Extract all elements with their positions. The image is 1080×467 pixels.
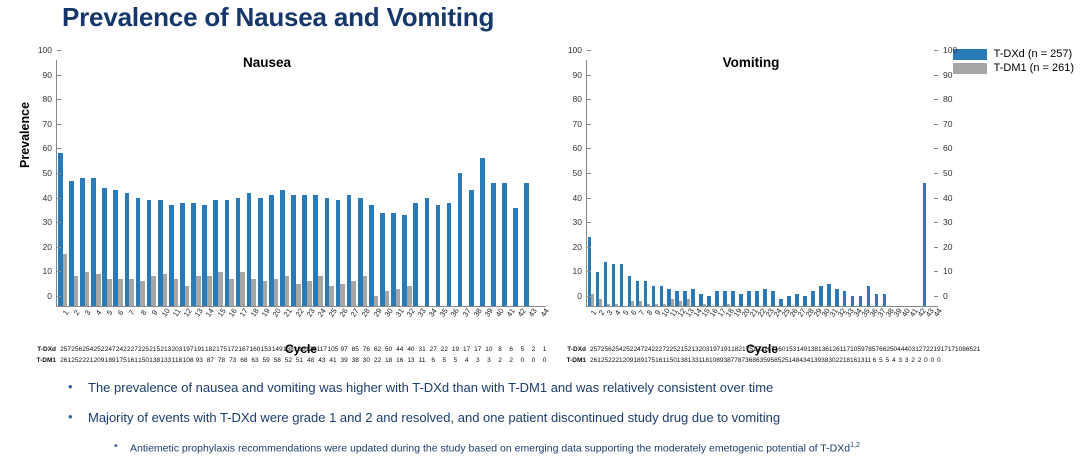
bar-group [235, 60, 246, 306]
x-tick-label: 27 [794, 309, 802, 343]
x-tick-label: 4 [610, 309, 618, 343]
bar-group [268, 60, 279, 306]
at-risk-cell: 252 [93, 346, 104, 353]
bar [118, 279, 123, 306]
bar [612, 264, 615, 306]
at-risk-cell: 8 [494, 346, 505, 353]
at-risk-cell: 247 [633, 346, 644, 353]
at-risk-cell: 117 [316, 346, 327, 353]
bar-group [90, 60, 101, 306]
bar [620, 264, 623, 306]
bar-group [124, 60, 135, 306]
bar [163, 274, 168, 306]
at-risk-cell: 136 [294, 346, 305, 353]
x-tick-label: 14 [690, 309, 698, 343]
y-tick-left-0: 0 [577, 291, 587, 301]
at-risk-cell: 85 [868, 346, 875, 353]
bar [591, 294, 594, 306]
bar-group [335, 60, 346, 306]
at-risk-cell: 108 [183, 357, 194, 364]
at-risk-cell: 150 [666, 357, 677, 364]
at-risk-cell: 225 [138, 346, 149, 353]
at-risk-cell: 78 [734, 357, 741, 364]
x-tick-label: 22 [290, 309, 301, 343]
x-tick-label: 31 [826, 309, 834, 343]
at-risk-cell: 172 [227, 346, 238, 353]
bar [296, 284, 301, 306]
bar [318, 276, 323, 306]
bar-group [827, 60, 835, 306]
at-risk-cell: 22 [926, 346, 933, 353]
at-risk-cell: 38 [821, 357, 828, 364]
bar [491, 183, 496, 306]
x-tick-label: 14 [201, 309, 212, 343]
at-risk-cell: 138 [149, 357, 160, 364]
x-tick-label: 40 [898, 309, 906, 343]
x-tick-label: 9 [650, 309, 658, 343]
bar [679, 301, 682, 306]
bar [763, 289, 766, 306]
bar-group [819, 60, 827, 306]
bar-group [866, 60, 874, 306]
bar-group [179, 60, 190, 306]
bar [644, 281, 647, 306]
bar-group [795, 60, 803, 306]
at-risk-cell: 209 [623, 357, 634, 364]
bar [251, 279, 256, 306]
bar [151, 276, 156, 306]
at-risk-cell: 150 [138, 357, 149, 364]
x-tick-label: 26 [335, 309, 346, 343]
bar [843, 291, 846, 306]
at-risk-cell: 50 [890, 346, 897, 353]
at-risk-cell: 11 [417, 357, 428, 364]
at-risk-cell: 6 [506, 346, 517, 353]
at-risk-cell: 50 [383, 346, 394, 353]
at-risk-cell: 138 [283, 346, 294, 353]
at-risk-cell: 43 [799, 357, 806, 364]
bar-group [890, 60, 898, 306]
at-risk-cell: 0 [539, 357, 550, 364]
bar-group [898, 60, 906, 306]
bullet-item-sub-1: Antiemetic prophylaxis recommendations w… [110, 441, 1030, 456]
bar-group [224, 60, 235, 306]
at-risk-values-nausea-tdm1: 2612522212091891751611501381331181089387… [60, 357, 550, 364]
at-risk-cell: 59 [763, 357, 770, 364]
bar [771, 291, 774, 306]
x-tick-label: 35 [435, 309, 446, 343]
at-risk-cell: 10 [955, 346, 962, 353]
x-tick-label: 29 [368, 309, 379, 343]
x-tick-label: 3 [78, 309, 89, 343]
x-tick-label: 11 [666, 309, 674, 343]
bar-group [659, 60, 667, 306]
bar [859, 296, 862, 306]
bar-group [914, 60, 922, 306]
bar [218, 272, 223, 306]
at-risk-values-vomiting-tdm1: 2612522212091891751611501381331181089387… [590, 357, 942, 364]
bar [458, 173, 463, 306]
bar [274, 279, 279, 306]
at-risk-cell: 189 [633, 357, 644, 364]
bar [604, 262, 607, 306]
bar [425, 198, 430, 306]
x-tick-label: 43 [524, 309, 535, 343]
at-risk-cell: 16 [394, 357, 405, 364]
at-risk-cell: 18 [843, 357, 850, 364]
at-risk-cell: 252 [71, 357, 82, 364]
at-risk-cell: 252 [601, 357, 612, 364]
x-tick-label: 31 [390, 309, 401, 343]
at-risk-cell: 105 [850, 346, 861, 353]
at-risk-cell: 215 [677, 346, 688, 353]
y-tick-90: 90 [43, 70, 57, 80]
bullet-sub-superscript: 1,2 [850, 441, 860, 449]
at-risk-cell: 161 [127, 357, 138, 364]
x-tick-label: 44 [535, 309, 546, 343]
bar-group [627, 60, 635, 306]
x-tick-label: 33 [413, 309, 424, 343]
x-tick-label: 15 [698, 309, 706, 343]
at-risk-cell: 30 [828, 357, 835, 364]
bar-group [501, 60, 512, 306]
at-risk-cell: 58 [770, 357, 777, 364]
charts-container: Nausea Prevalence 0102030405060708090100… [0, 50, 1080, 350]
x-tick-label: 10 [156, 309, 167, 343]
bar-group [490, 60, 501, 306]
bar-group [691, 60, 699, 306]
bar-group [146, 60, 157, 306]
x-tick-label: 22 [754, 309, 762, 343]
at-risk-cell: 167 [764, 346, 775, 353]
bar [883, 294, 886, 306]
at-risk-cell: 17 [948, 346, 955, 353]
bar [607, 304, 610, 306]
at-risk-cell: 17 [941, 346, 948, 353]
bar-group [803, 60, 811, 306]
bar [867, 286, 870, 306]
at-risk-cell: 5 [450, 357, 461, 364]
bullet-item-1: The prevalence of nausea and vomiting wa… [64, 380, 1080, 396]
bar-group [257, 60, 268, 306]
bar-group [922, 60, 930, 306]
bar-group [457, 60, 468, 306]
bar-group [643, 60, 651, 306]
y-tick-60: 60 [938, 143, 952, 153]
bar [655, 304, 658, 306]
at-risk-cell: 136 [818, 346, 829, 353]
bar [351, 281, 356, 306]
y-tick-60: 60 [43, 143, 57, 153]
y-tick-20: 20 [43, 242, 57, 252]
bar-group [357, 60, 368, 306]
at-risk-cell: 27 [919, 346, 926, 353]
at-risk-cell: 138 [677, 357, 688, 364]
plot-area-nausea: 0102030405060708090100 [56, 60, 546, 307]
y-tick-left-90: 90 [573, 70, 587, 80]
bar [196, 276, 201, 306]
bar-group [113, 60, 124, 306]
bar-group [68, 60, 79, 306]
at-risk-cell: 0 [528, 357, 539, 364]
bar [739, 294, 742, 306]
at-risk-cell: 31 [912, 346, 919, 353]
bar-group [201, 60, 212, 306]
at-risk-cell: 126 [829, 346, 840, 353]
x-tick-label: 17 [714, 309, 722, 343]
bar-group [213, 60, 224, 306]
at-risk-row-vomiting-tdm1: T-DM1 2612522212091891751611501381331181… [552, 357, 942, 364]
x-tick-label: 15 [212, 309, 223, 343]
x-tick-label: 28 [802, 309, 810, 343]
at-risk-cell: 16 [850, 357, 857, 364]
chart-panel-nausea: Nausea Prevalence 0102030405060708090100… [22, 50, 552, 350]
at-risk-cell: 40 [405, 346, 416, 353]
at-risk-cell: 257 [590, 346, 601, 353]
y-tick-20: 20 [938, 242, 952, 252]
at-risk-cell: 213 [160, 346, 171, 353]
at-risk-cell: 2 [506, 357, 517, 364]
at-risk-label-tdm1: T-DM1 [22, 357, 60, 364]
bar [787, 296, 790, 306]
x-tick-label: 35 [858, 309, 866, 343]
at-risk-cell: 189 [105, 357, 116, 364]
y-tick-40: 40 [938, 193, 952, 203]
at-risk-cell: 261 [590, 357, 601, 364]
x-tick-label: 41 [502, 309, 513, 343]
x-tick-label: 13 [682, 309, 690, 343]
x-tick-label: 13 [190, 309, 201, 343]
bar-group [587, 60, 595, 306]
at-risk-cell: 2 [494, 357, 505, 364]
at-risk-cell: 0 [936, 357, 942, 364]
bar [385, 291, 390, 306]
bar [129, 279, 134, 306]
bar-group [787, 60, 795, 306]
bar [851, 296, 854, 306]
at-risk-cell: 153 [785, 346, 796, 353]
x-tick-label: 18 [245, 309, 256, 343]
x-tick-label: 39 [479, 309, 490, 343]
y-tick-30: 30 [43, 217, 57, 227]
x-tick-label: 8 [134, 309, 145, 343]
at-risk-cell: 254 [82, 346, 93, 353]
bar [480, 158, 485, 306]
bar [413, 203, 418, 306]
at-risk-cell: 256 [601, 346, 612, 353]
at-risk-cell: 191 [194, 346, 205, 353]
bar-group [675, 60, 683, 306]
at-risk-cell: 242 [644, 346, 655, 353]
bar [631, 301, 634, 306]
bar-group [882, 60, 890, 306]
y-tick-left-60: 60 [573, 143, 587, 153]
x-tick-label: 32 [834, 309, 842, 343]
at-risk-cell: 73 [227, 357, 238, 364]
at-risk-cell: 256 [71, 346, 82, 353]
at-risk-cell: 108 [709, 357, 720, 364]
at-risk-cell: 175 [216, 346, 227, 353]
bar-group [731, 60, 739, 306]
y-tick-left-70: 70 [573, 119, 587, 129]
at-risk-values-nausea-tdxd: 2572562542522472422272252152132031971911… [60, 346, 550, 353]
x-tick-label: 28 [357, 309, 368, 343]
y-tick-left-80: 80 [573, 94, 587, 104]
at-risk-cell: 133 [688, 357, 699, 364]
at-risk-cell: 1 [977, 346, 981, 353]
bar-group [535, 60, 546, 306]
x-tick-label: 24 [312, 309, 323, 343]
at-risk-cell: 182 [205, 346, 216, 353]
bar-group [190, 60, 201, 306]
bar-group [479, 60, 490, 306]
at-risk-cell: 225 [666, 346, 677, 353]
at-risk-cell: 197 [183, 346, 194, 353]
at-risk-row-nausea-tdm1: T-DM1 2612522212091891751611501381331181… [22, 357, 550, 364]
at-risk-cell: 93 [720, 357, 727, 364]
at-risk-cell: 93 [194, 357, 205, 364]
bar-group [667, 60, 675, 306]
bar [107, 279, 112, 306]
bar-group [379, 60, 390, 306]
at-risk-cell: 118 [171, 357, 182, 364]
x-tick-label: 23 [301, 309, 312, 343]
x-tick-label: 12 [179, 309, 190, 343]
y-tick-80: 80 [43, 94, 57, 104]
bar-group [755, 60, 763, 306]
bar [779, 299, 782, 306]
y-tick-100: 100 [938, 45, 957, 55]
at-risk-cell: 118 [699, 357, 709, 364]
x-tick-label: 6 [626, 309, 634, 343]
bar-group [843, 60, 851, 306]
at-risk-cell: 227 [655, 346, 666, 353]
at-risk-cell: 97 [339, 346, 350, 353]
bullet-item-2: Majority of events with T-DXd were grade… [64, 410, 1080, 426]
bar [827, 284, 830, 306]
at-risk-cell: 215 [149, 346, 160, 353]
y-tick-left-40: 40 [573, 193, 587, 203]
at-risk-cell: 76 [361, 346, 372, 353]
bar-group [101, 60, 112, 306]
bar-group [747, 60, 755, 306]
y-tick-left-100: 100 [568, 45, 587, 55]
x-tick-label: 20 [268, 309, 279, 343]
bar [207, 276, 212, 306]
bar-group [635, 60, 643, 306]
bar [687, 299, 690, 306]
at-risk-cell: 19 [933, 346, 940, 353]
x-tick-label: 33 [842, 309, 850, 343]
y-axis-title-nausea: Prevalence [18, 102, 32, 168]
bar [369, 205, 374, 306]
bar [447, 203, 452, 306]
bullet-list: The prevalence of nausea and vomiting wa… [0, 380, 1080, 456]
at-risk-cell: 59 [261, 357, 272, 364]
bars-vomiting [587, 60, 938, 306]
y-tick-10: 10 [938, 266, 952, 276]
x-tick-label: 1 [586, 309, 594, 343]
at-risk-cell: 51 [785, 357, 792, 364]
at-risk-cell: 197 [709, 346, 720, 353]
bar [469, 190, 474, 306]
bar [513, 208, 518, 306]
bar-group [850, 60, 858, 306]
at-risk-cell: 227 [127, 346, 138, 353]
bar-group [524, 60, 535, 306]
x-tick-label: 40 [490, 309, 501, 343]
at-risk-cell: 78 [216, 357, 227, 364]
bar [615, 304, 618, 306]
x-tick-label: 1 [56, 309, 67, 343]
at-risk-cell: 52 [778, 357, 785, 364]
bar [639, 301, 642, 306]
x-tick-label: 21 [279, 309, 290, 343]
bar [307, 281, 312, 306]
bar-group [424, 60, 435, 306]
bar-group [595, 60, 603, 306]
at-risk-cell: 126 [305, 346, 316, 353]
bar [875, 294, 878, 306]
x-tick-label: 17 [234, 309, 245, 343]
x-tick-label: 16 [223, 309, 234, 343]
at-risk-cell: 191 [720, 346, 731, 353]
at-risk-cell: 11 [865, 357, 872, 364]
at-risk-cell: 97 [861, 346, 868, 353]
x-tick-label: 11 [167, 309, 178, 343]
at-risk-cell: 44 [394, 346, 405, 353]
y-tick-30: 30 [938, 217, 952, 227]
bar-group [57, 60, 68, 306]
at-risk-cell: 27 [428, 346, 439, 353]
y-tick-50: 50 [938, 168, 952, 178]
at-risk-cell: 38 [350, 357, 361, 364]
at-risk-cell: 149 [272, 346, 283, 353]
y-tick-0: 0 [938, 291, 948, 301]
bar [811, 291, 814, 306]
x-tick-label: 5 [101, 309, 112, 343]
bar-group [835, 60, 843, 306]
chart-panel-vomiting: Vomiting 0102030405060708090100010203040… [552, 50, 930, 350]
bars-nausea [57, 60, 546, 306]
bar [819, 286, 822, 306]
at-risk-cell: 117 [840, 346, 850, 353]
at-risk-cell: 203 [171, 346, 182, 353]
at-risk-cell: 68 [238, 357, 249, 364]
x-tick-label: 34 [850, 309, 858, 343]
at-risk-cell: 43 [316, 357, 327, 364]
at-risk-cell: 0 [517, 357, 528, 364]
x-tick-label: 12 [674, 309, 682, 343]
x-tick-label: 43 [922, 309, 930, 343]
bar [329, 286, 334, 306]
x-tick-label: 19 [730, 309, 738, 343]
at-risk-cell: 138 [807, 346, 818, 353]
at-risk-cell: 10 [483, 346, 494, 353]
y-tick-100: 100 [38, 45, 57, 55]
bar-group [468, 60, 479, 306]
bar-group [168, 60, 179, 306]
bar [691, 289, 694, 306]
y-tick-70: 70 [938, 119, 952, 129]
at-risk-cell: 19 [450, 346, 461, 353]
x-tick-label: 38 [468, 309, 479, 343]
at-risk-cell: 5 [517, 346, 528, 353]
bar [85, 272, 90, 306]
bar [363, 276, 368, 306]
at-risk-cell: 3 [472, 357, 483, 364]
at-risk-cell: 52 [283, 357, 294, 364]
